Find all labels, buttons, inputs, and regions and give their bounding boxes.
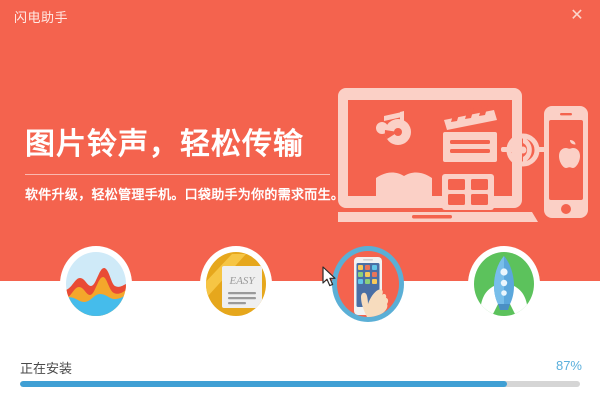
progress-bar-track bbox=[20, 381, 580, 387]
close-icon[interactable]: ✕ bbox=[566, 4, 588, 26]
laptop-to-phone-transfer-illustration bbox=[338, 82, 588, 237]
hero-subhead: 软件升级，轻松管理手机。口袋助手为你的需求而生。 bbox=[25, 184, 345, 203]
feature-icon-documents[interactable]: EASY bbox=[200, 246, 272, 322]
feature-icon-rocket[interactable] bbox=[468, 246, 540, 322]
svg-text:EASY: EASY bbox=[228, 275, 256, 287]
title-bar: 闪电助手 ✕ bbox=[0, 0, 600, 30]
progress-bar-fill bbox=[20, 381, 507, 387]
feature-icon-phone-in-hand[interactable] bbox=[332, 246, 404, 322]
iphone-apple-icon bbox=[544, 106, 588, 218]
install-status-label: 正在安装 bbox=[20, 358, 72, 377]
phone-in-hand-icon bbox=[337, 251, 399, 317]
documents-easy-icon: EASY bbox=[206, 252, 266, 316]
rocket-boost-icon bbox=[474, 252, 534, 316]
feature-icon-row: EASY bbox=[0, 246, 600, 322]
headline-divider bbox=[25, 174, 330, 175]
hero-headline: 图片铃声，轻松传输 bbox=[25, 128, 345, 162]
headline-block: 图片铃声，轻松传输 软件升级，轻松管理手机。口袋助手为你的需求而生。 bbox=[25, 128, 345, 203]
window-title: 闪电助手 bbox=[14, 7, 68, 26]
install-percent-label: 87% bbox=[556, 358, 582, 373]
photos-icon bbox=[66, 252, 126, 316]
installer-window: 闪电助手 ✕ 图片铃声，轻松传输 软件升级，轻松管理手机。口袋助手为你的需求而生… bbox=[0, 0, 600, 410]
feature-icon-photos[interactable] bbox=[60, 246, 132, 322]
